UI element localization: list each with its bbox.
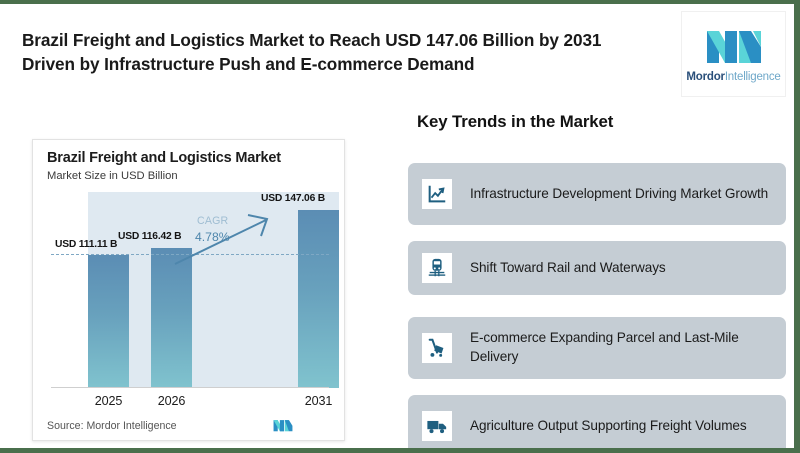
infographic-page: Brazil Freight and Logistics Market to R… <box>0 0 800 453</box>
chart-plot-area: USD 111.11 B USD 116.42 B USD 147.06 B C… <box>33 192 344 400</box>
source-mordor-logo-icon <box>270 418 296 432</box>
chart-title: Brazil Freight and Logistics Market <box>47 150 281 166</box>
line-chart-growth-icon <box>422 179 452 209</box>
hand-truck-icon <box>422 333 452 363</box>
trend-card-ecommerce[interactable]: E-commerce Expanding Parcel and Last-Mil… <box>408 317 786 379</box>
trend-label: Agriculture Output Supporting Freight Vo… <box>470 417 747 436</box>
brand-logo-text: MordorIntelligence <box>686 71 780 83</box>
content-canvas: Brazil Freight and Logistics Market to R… <box>0 4 794 448</box>
trend-card-infrastructure[interactable]: Infrastructure Development Driving Marke… <box>408 163 786 225</box>
brand-name-secondary: Intelligence <box>725 71 781 83</box>
chart-xtick-2031: 2031 <box>298 394 339 408</box>
chart-xtick-2025: 2025 <box>88 394 129 408</box>
chart-subtitle: Market Size in USD Billion <box>47 170 178 182</box>
brand-name-primary: Mordor <box>686 71 724 83</box>
brand-logo: MordorIntelligence <box>682 12 785 96</box>
cagr-growth-arrow-icon <box>33 192 344 400</box>
trend-label: Infrastructure Development Driving Marke… <box>470 185 768 204</box>
delivery-truck-icon <box>422 411 452 441</box>
trend-card-rail-waterways[interactable]: Shift Toward Rail and Waterways <box>408 241 786 295</box>
trend-card-agriculture[interactable]: Agriculture Output Supporting Freight Vo… <box>408 395 786 448</box>
page-title: Brazil Freight and Logistics Market to R… <box>22 28 652 77</box>
trend-label: E-commerce Expanding Parcel and Last-Mil… <box>470 329 774 367</box>
chart-card: Brazil Freight and Logistics Market Mark… <box>32 139 345 441</box>
mordor-m-logo-icon <box>703 25 765 65</box>
train-icon <box>422 253 452 283</box>
trend-label: Shift Toward Rail and Waterways <box>470 259 666 278</box>
trends-heading: Key Trends in the Market <box>417 112 613 132</box>
chart-xtick-2026: 2026 <box>151 394 192 408</box>
chart-source: Source: Mordor Intelligence <box>47 420 177 432</box>
